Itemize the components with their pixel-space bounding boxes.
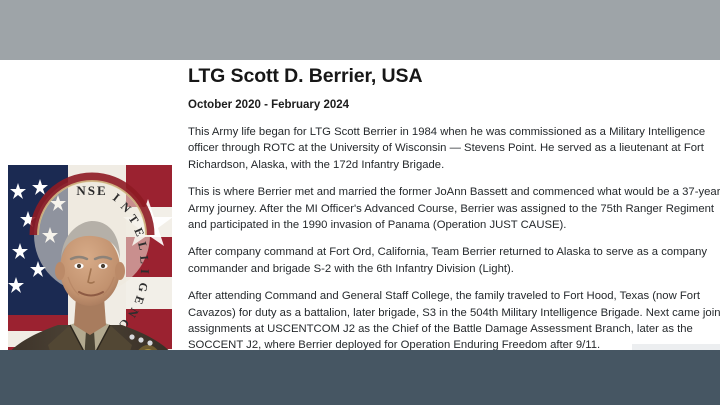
bio-paragraph-4: After attending Command and General Staf… [188, 277, 720, 350]
svg-text:I: I [138, 269, 152, 274]
content-sheet: NSE I N T E L L I G E N C E [0, 60, 720, 350]
document-page: NSE I N T E L L I G E N C E [0, 0, 720, 405]
bottom-slate-band [0, 350, 720, 405]
page-title: LTG Scott D. Berrier, USA [188, 60, 720, 89]
svg-text:L: L [137, 255, 152, 264]
svg-text:NSE: NSE [76, 183, 107, 198]
biography-column: LTG Scott D. Berrier, USA October 2020 -… [188, 60, 720, 350]
tenure-dates: October 2020 - February 2024 [188, 89, 720, 113]
officer-portrait-photo: NSE I N T E L L I G E N C E [8, 165, 172, 350]
bio-paragraph-2: This is where Berrier met and married th… [188, 173, 720, 233]
bio-paragraph-3: After company command at Fort Ord, Calif… [188, 233, 720, 277]
bio-paragraph-1: This Army life began for LTG Scott Berri… [188, 113, 720, 173]
top-grey-band [0, 0, 720, 60]
